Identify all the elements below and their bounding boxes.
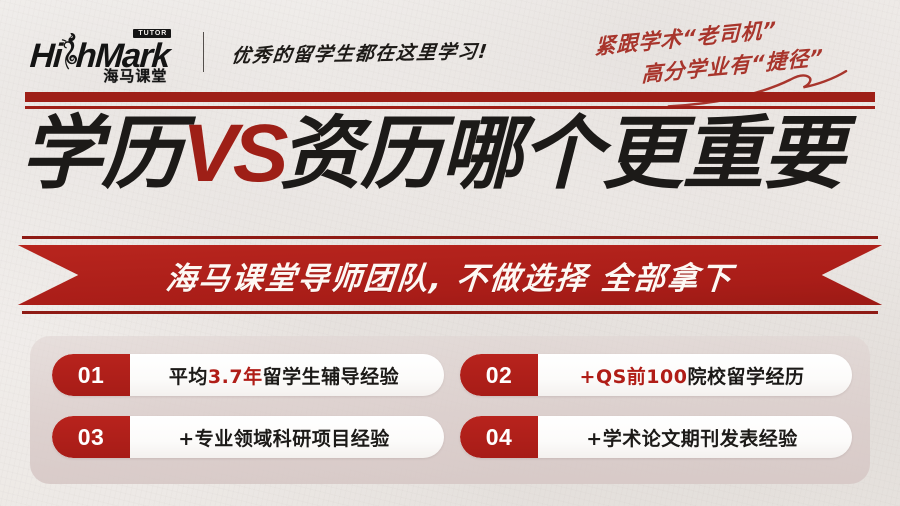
ribbon-text: 海马课堂导师团队, 不做选择 全部拿下 [164,253,735,298]
feature-item-03[interactable]: 03 +专业领域科研项目经验 [52,416,444,458]
ribbon-line-top [22,236,878,239]
promo-banner: Hi hMark TUTOR 海马课堂 优秀的留学生都在这里学习! 紧跟学术“老… [0,0,900,506]
feature-number-02: 02 [460,354,538,396]
logo-text-hi: Hi [29,40,62,72]
logo-chinese-name: 海马课堂 [103,69,167,84]
ribbon-banner: 海马课堂导师团队, 不做选择 全部拿下 [18,236,882,314]
feature-label-02: +QS前100院校留学经历 [538,362,852,389]
header-divider [203,32,204,72]
feature-highlight-02: +QS前100 [580,362,688,389]
brand-logo[interactable]: Hi hMark TUTOR 海马课堂 [30,24,169,80]
headline-vs: VS [179,113,286,195]
feature-suffix-01: 留学生辅导经验 [263,362,400,389]
feature-suffix-02: 院校留学经历 [687,362,804,389]
feature-number-03: 03 [52,416,130,458]
headline-part-2: 资历哪个更重要 [280,114,844,194]
logo-tutor-badge: TUTOR [133,29,171,38]
ribbon-body: 海马课堂导师团队, 不做选择 全部拿下 [18,245,882,305]
headline-part-1: 学历 [20,114,181,194]
header: Hi hMark TUTOR 海马课堂 优秀的留学生都在这里学习! [30,24,489,80]
feature-label-04: +学术论文期刊发表经验 [538,424,852,451]
header-tagline: 优秀的留学生都在这里学习! [231,36,491,67]
feature-item-01[interactable]: 01 平均3.7年留学生辅导经验 [52,354,444,396]
feature-list: 01 平均3.7年留学生辅导经验 02 +QS前100院校留学经历 03 +专业… [52,354,852,458]
feature-number-04: 04 [460,416,538,458]
page-title: 学历 VS 资历哪个更重要 [22,108,882,200]
feature-highlight-01: 3.7年 [208,362,263,389]
feature-label-01: 平均3.7年留学生辅导经验 [130,362,444,389]
feature-item-04[interactable]: 04 +学术论文期刊发表经验 [460,416,852,458]
feature-label-03: +专业领域科研项目经验 [130,424,444,451]
logo-wordmark: Hi hMark TUTOR [30,32,169,72]
feature-number-01: 01 [52,354,130,396]
feature-prefix-01: 平均 [169,362,208,389]
rule-thick [25,92,875,102]
ribbon-line-bottom [22,311,878,314]
feature-prefix-04: +学术论文期刊发表经验 [586,424,797,451]
feature-item-02[interactable]: 02 +QS前100院校留学经历 [460,354,852,396]
feature-prefix-03: +专业领域科研项目经验 [178,424,389,451]
